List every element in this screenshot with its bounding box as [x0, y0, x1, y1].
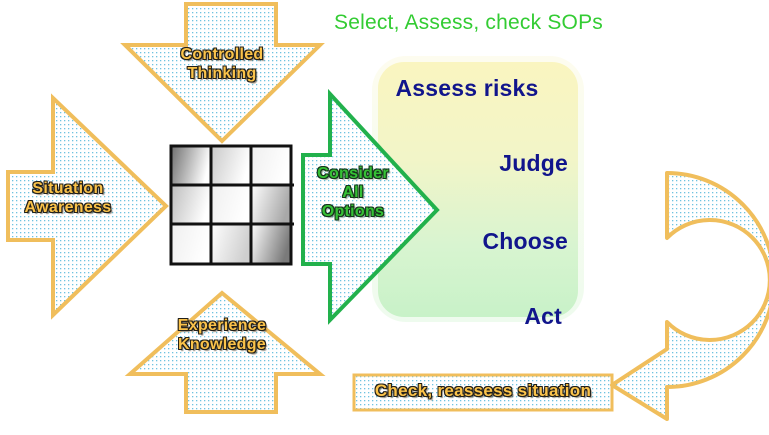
grid-cell	[171, 185, 211, 224]
arrow-experience-knowledge	[130, 293, 320, 412]
situation-grid	[171, 146, 294, 264]
bar-check-reassess	[354, 375, 612, 410]
grid-cell	[211, 146, 251, 185]
arrow-controlled-thinking	[125, 4, 320, 141]
grid-cell	[251, 224, 291, 264]
grid-cell	[251, 146, 291, 185]
arrow-situation-awareness	[8, 98, 166, 315]
grid-cell	[211, 185, 251, 224]
grid-cell	[211, 224, 251, 264]
diagram-vector-layer	[0, 0, 769, 435]
arrow-feedback-loop	[612, 173, 769, 419]
grid-cell	[171, 224, 211, 264]
diagram-canvas: Select, Assess, check SOPs Situation Awa…	[0, 0, 769, 435]
grid-cell	[251, 185, 291, 224]
grid-cell	[171, 146, 211, 185]
